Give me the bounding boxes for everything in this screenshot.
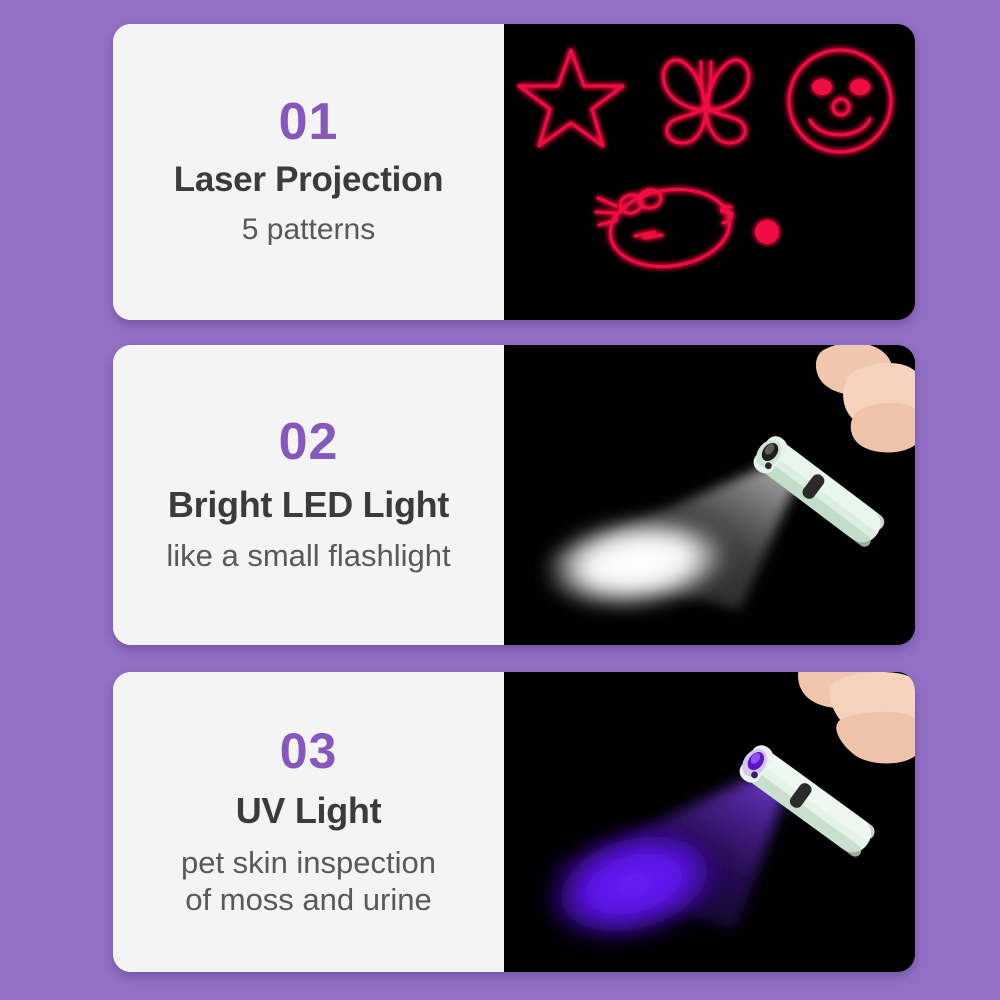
uv-beam-illustration xyxy=(504,672,915,972)
feature-card-2-text: 02 Bright LED Light like a small flashli… xyxy=(113,345,504,645)
uv-beam-panel xyxy=(504,672,915,972)
step-title-02: Bright LED Light xyxy=(168,486,449,524)
feature-card-laser-projection[interactable]: 01 Laser Projection 5 patterns xyxy=(113,24,915,320)
step-subtitle-01: 5 patterns xyxy=(242,213,375,248)
step-subtitle-02: like a small flashlight xyxy=(166,538,450,574)
step-number-02: 02 xyxy=(279,416,339,468)
step-number-01: 01 xyxy=(279,96,339,148)
feature-card-1-text: 01 Laser Projection 5 patterns xyxy=(113,24,504,320)
step-subtitle-03: pet skin inspection of moss and urine xyxy=(181,844,436,918)
led-beam-panel xyxy=(504,345,915,645)
step-title-03: UV Light xyxy=(236,792,382,830)
feature-card-uv-light[interactable]: 03 UV Light pet skin inspection of moss … xyxy=(113,672,915,972)
laser-patterns-illustration xyxy=(504,24,915,320)
led-beam-illustration xyxy=(504,345,915,645)
laser-pattern-panel xyxy=(504,24,915,320)
dot-pattern xyxy=(755,220,779,244)
step-title-01: Laser Projection xyxy=(174,162,443,199)
step-number-03: 03 xyxy=(280,726,338,776)
feature-card-led-light[interactable]: 02 Bright LED Light like a small flashli… xyxy=(113,345,915,645)
infographic-board: 01 Laser Projection 5 patterns xyxy=(0,0,1000,1000)
feature-card-3-text: 03 UV Light pet skin inspection of moss … xyxy=(113,672,504,972)
